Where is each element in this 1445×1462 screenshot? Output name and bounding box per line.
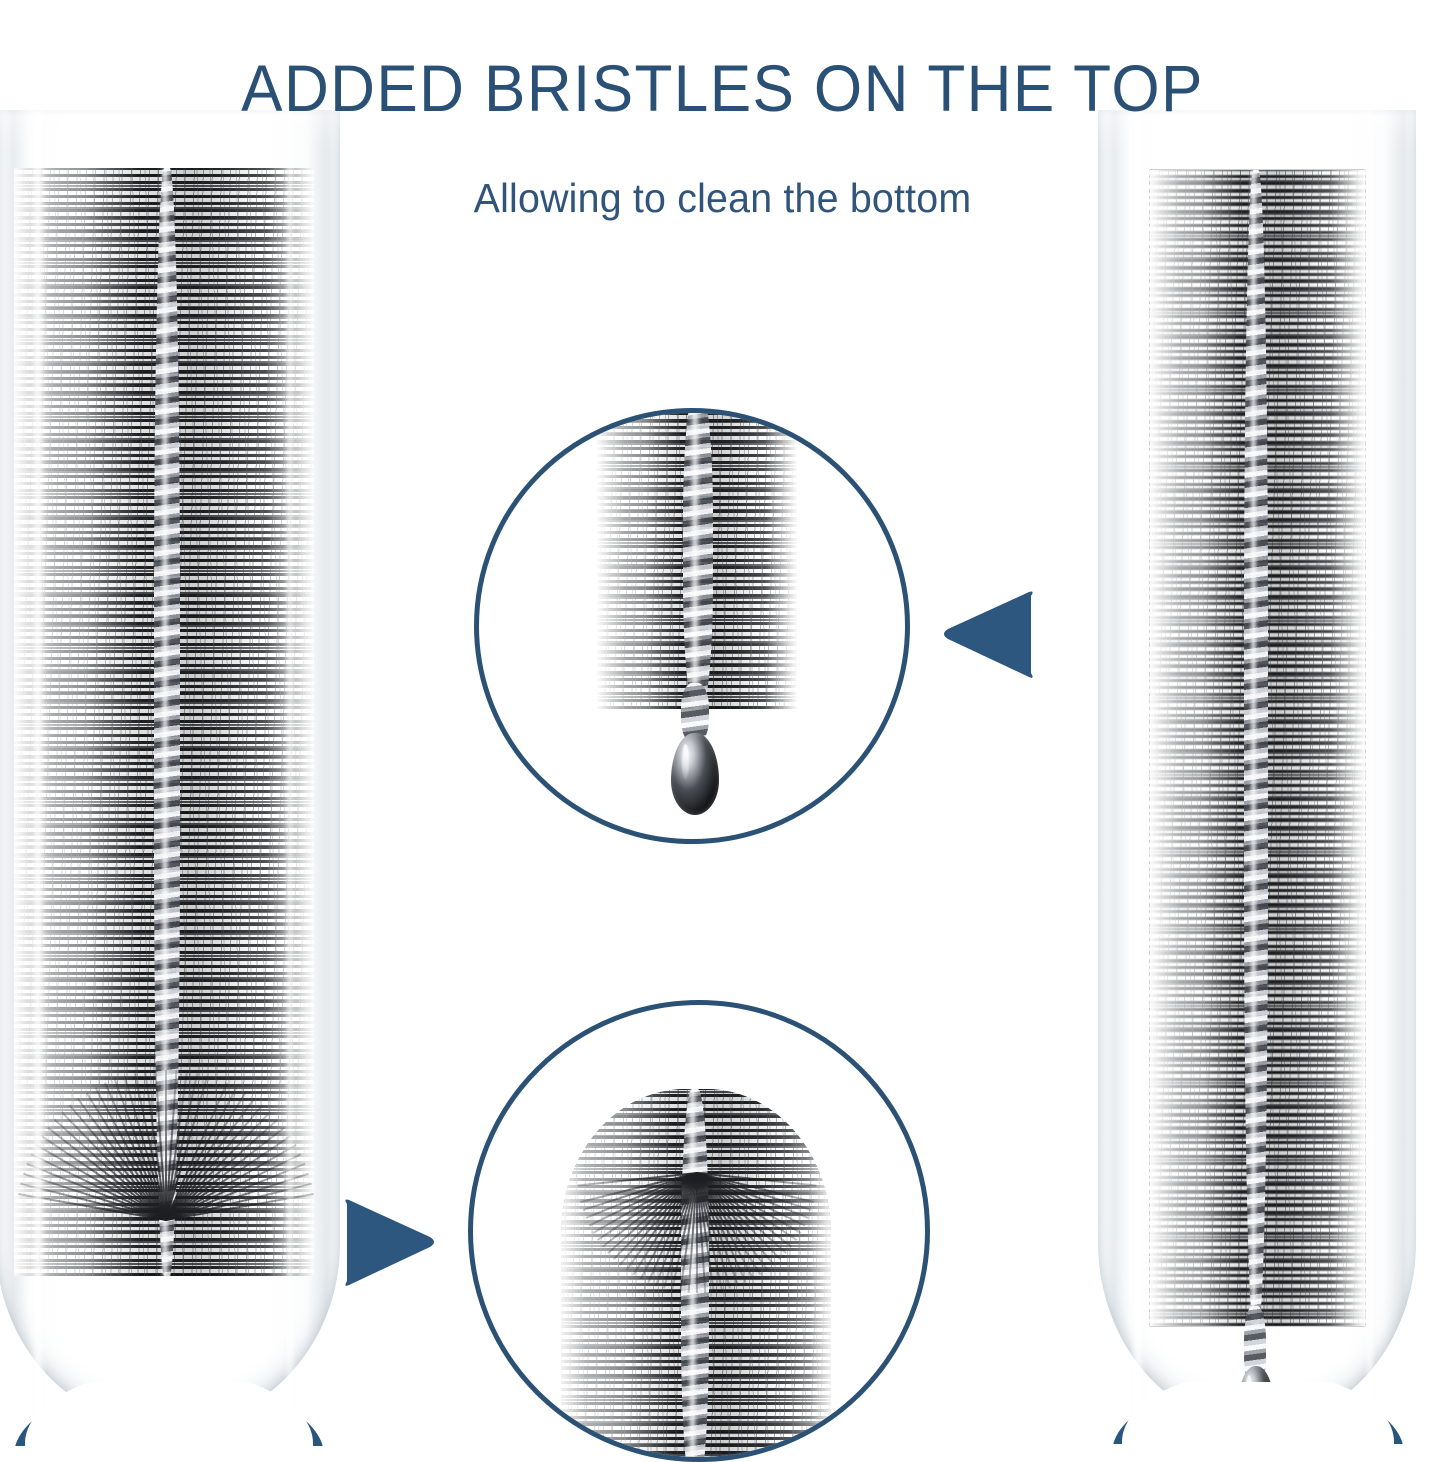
detail-core-highlight (689, 408, 701, 709)
left-pointing-triangle-arrow (936, 584, 1038, 686)
right-tube-highlight-right (1365, 110, 1375, 1426)
brush-tip-detail-circle (474, 408, 910, 844)
right-tube-base-arc (1112, 1382, 1404, 1444)
right-tube-highlight (1130, 110, 1146, 1426)
infographic-canvas: ADDED BRISTLES ON THE TOP Allowing to cl… (0, 0, 1445, 1456)
right-glass-tube (1098, 110, 1416, 1426)
left-tube-highlight-right (285, 110, 295, 1428)
detail-teardrop-highlight (682, 744, 689, 780)
page-title: ADDED BRISTLES ON THE TOP (43, 52, 1401, 124)
detail-teardrop-tip (671, 733, 719, 815)
brush-head-detail-circle (468, 1000, 930, 1462)
detail-head-top-crown (565, 1053, 827, 1293)
page-subtitle: Allowing to clean the bottom (29, 174, 1416, 222)
left-tube-highlight (30, 110, 46, 1428)
left-tube-base-arc (14, 1382, 324, 1446)
left-glass-tube (0, 110, 340, 1428)
detail-brush-segment (597, 408, 797, 709)
right-pointing-triangle-arrow (340, 1192, 442, 1294)
